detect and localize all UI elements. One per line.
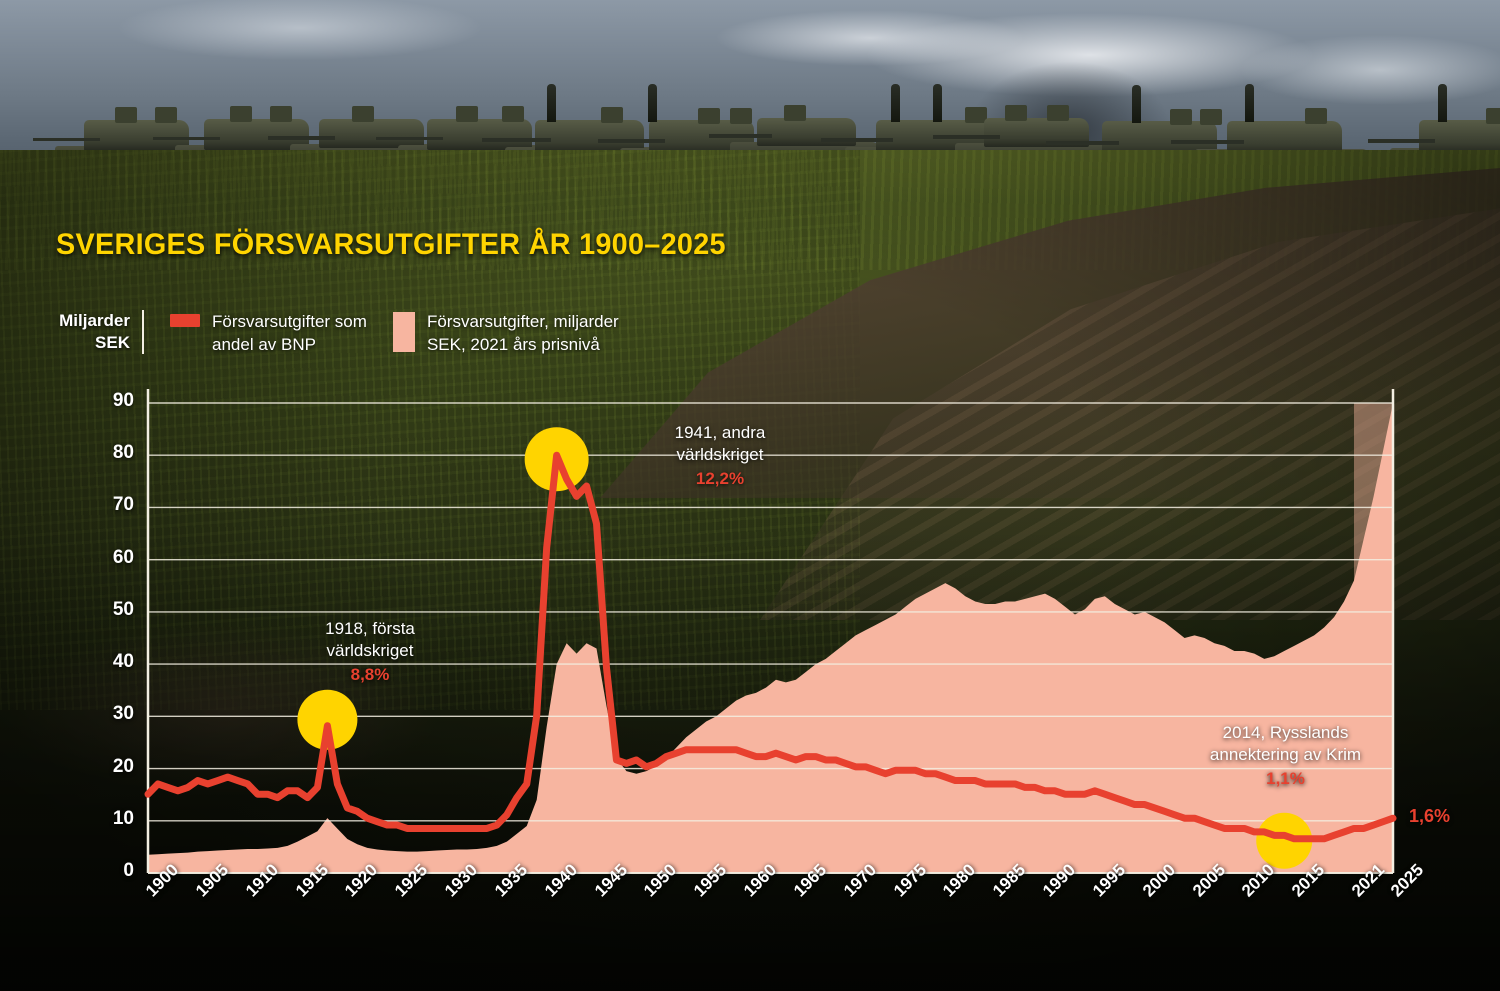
- annotation-text-ww1: 1918, första världskriget: [325, 619, 415, 660]
- chart-svg: [0, 0, 1500, 991]
- chart-canvas: 0102030405060708090190019051910191519201…: [0, 0, 1500, 991]
- y-axis-tick-label: 10: [82, 808, 134, 830]
- y-axis-tick-label: 90: [82, 390, 134, 412]
- y-axis-tick-label: 0: [82, 860, 134, 882]
- annotation-pct-ww2: 12,2%: [620, 468, 820, 490]
- y-axis-tick-label: 40: [82, 651, 134, 673]
- annotation-text-ww2: 1941, andra världskriget: [675, 423, 766, 464]
- annotation-ww2: 1941, andra världskriget12,2%: [620, 422, 820, 490]
- y-axis-tick-label: 60: [82, 547, 134, 569]
- annotation-pct-ww1: 8,8%: [270, 664, 470, 686]
- annotation-ww1: 1918, första världskriget8,8%: [270, 618, 470, 686]
- y-axis-tick-label: 50: [82, 599, 134, 621]
- y-axis-tick-label: 20: [82, 756, 134, 778]
- annotation-text-crimea: 2014, Rysslands annektering av Krim: [1210, 723, 1361, 764]
- annotation-crimea: 2014, Rysslands annektering av Krim1,1%: [1168, 722, 1403, 790]
- y-axis-tick-label: 30: [82, 703, 134, 725]
- y-axis-tick-label: 70: [82, 494, 134, 516]
- annotation-pct-crimea: 1,1%: [1168, 768, 1403, 790]
- end-value-label: 1,6%: [1409, 806, 1450, 827]
- y-axis-tick-label: 80: [82, 442, 134, 464]
